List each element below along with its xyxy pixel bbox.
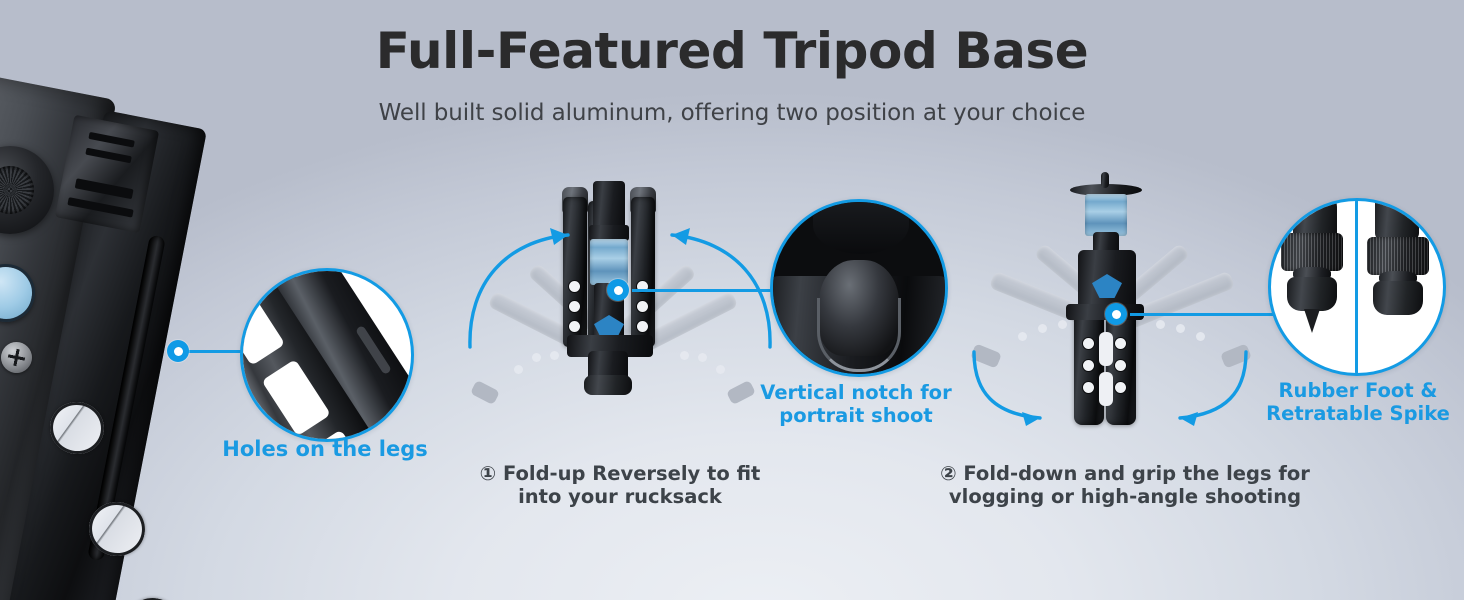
infographic-canvas: Full-Featured Tripod Base Well built sol…: [0, 0, 1464, 600]
callout-divider: [1355, 201, 1358, 373]
folded-leg: [1074, 310, 1104, 425]
ball-head-stem: [813, 199, 909, 254]
head-screw: [1101, 172, 1109, 188]
ghost-foot: [726, 380, 756, 405]
blue-anodized-ring: [1085, 194, 1127, 236]
rubber-foot-left: [1287, 277, 1337, 311]
foot-shank-right: [1375, 198, 1419, 241]
callout-label-feet: Rubber Foot & Retratable Spike: [1258, 379, 1458, 426]
curved-arrow-icon: [1152, 348, 1252, 428]
magnifier-circle-feet: [1268, 198, 1446, 376]
callout-leader-line-3: [1130, 313, 1276, 316]
step-caption-2: ② Fold-down and grip the legs for vloggi…: [935, 462, 1315, 509]
rubber-foot-right: [1373, 281, 1423, 315]
callout-dot-icon[interactable]: [167, 340, 189, 362]
rubber-foot: [584, 375, 632, 395]
blue-anodized-ring: [590, 239, 628, 285]
center-column-top: [593, 181, 625, 229]
vertical-notch-slot: [817, 298, 901, 372]
page-title: Full-Featured Tripod Base: [0, 24, 1464, 78]
callout-leader-line-2: [632, 289, 778, 292]
curved-arrow-icon: [968, 348, 1068, 428]
magnifier-circle-notch: [770, 199, 948, 377]
leg-slot: [1099, 332, 1113, 366]
leg-hole: [123, 593, 184, 600]
callout-dot-icon[interactable]: [1105, 303, 1127, 325]
folded-leg: [1106, 310, 1136, 425]
magnifier-circle-holes: [240, 268, 414, 442]
curved-arrow-icon: [464, 225, 584, 355]
knurled-collar-left: [1281, 233, 1343, 271]
callout-label-notch: Vertical notch for portrait shoot: [756, 381, 956, 428]
knurled-collar-right: [1367, 237, 1429, 275]
callout-label-holes: Holes on the legs: [200, 437, 450, 462]
step-caption-1: ① Fold-up Reversely to fit into your ruc…: [470, 462, 770, 509]
retractable-spike: [1304, 309, 1320, 333]
ghost-foot: [470, 380, 500, 405]
folded-leg: [631, 197, 655, 347]
leg-slot: [1099, 372, 1113, 406]
callout-dot-icon[interactable]: [607, 279, 629, 301]
